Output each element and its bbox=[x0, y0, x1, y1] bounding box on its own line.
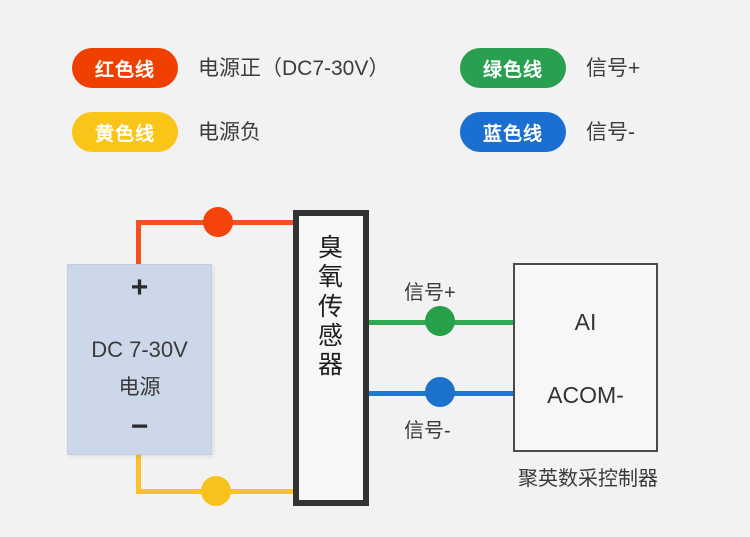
junction-dot-green-icon bbox=[425, 306, 455, 336]
junction-dot-yellow-icon bbox=[201, 476, 231, 506]
junction-dot-blue-icon bbox=[425, 377, 455, 407]
wiring-diagram-canvas: 红色线 电源正（DC7-30V） 黄色线 电源负 绿色线 信号+ 蓝色线 信号-… bbox=[0, 0, 750, 537]
legend-pill-yellow-wire: 黄色线 bbox=[72, 112, 178, 152]
sensor-char-5: 器 bbox=[299, 351, 363, 380]
legend-description-red-wire: 电源正（DC7-30V） bbox=[198, 52, 389, 82]
legend-pill-green-label: 绿色线 bbox=[483, 55, 543, 82]
sensor-char-4: 感 bbox=[299, 322, 363, 351]
power-supply-label: DC 7-30V 电源 bbox=[68, 337, 211, 401]
power-supply-voltage: DC 7-30V bbox=[68, 337, 211, 363]
ozone-sensor-label: 臭 氧 传 感 器 bbox=[299, 234, 363, 380]
controller-caption: 聚英数采控制器 bbox=[498, 462, 678, 491]
signal-positive-label: 信号+ bbox=[404, 276, 456, 305]
wire-power-negative-vertical bbox=[136, 449, 141, 494]
legend-pill-blue-wire: 蓝色线 bbox=[460, 112, 566, 152]
signal-negative-label: 信号- bbox=[404, 414, 451, 443]
legend-pill-green-wire: 绿色线 bbox=[460, 48, 566, 88]
power-supply-positive-terminal: + bbox=[68, 273, 211, 303]
legend-description-green-wire: 信号+ bbox=[586, 52, 640, 82]
power-supply-negative-terminal: − bbox=[68, 412, 211, 442]
ozone-sensor-box: 臭 氧 传 感 器 bbox=[293, 210, 369, 506]
sensor-char-1: 臭 bbox=[299, 234, 363, 263]
controller-terminal-acom: ACOM- bbox=[515, 382, 656, 409]
legend-pill-yellow-label: 黄色线 bbox=[95, 119, 155, 146]
legend-description-blue-wire: 信号- bbox=[586, 116, 635, 146]
wire-power-positive-vertical bbox=[136, 222, 141, 270]
legend-pill-blue-label: 蓝色线 bbox=[483, 119, 543, 146]
legend-pill-red-label: 红色线 bbox=[95, 55, 155, 82]
sensor-char-2: 氧 bbox=[299, 263, 363, 292]
legend-pill-red-wire: 红色线 bbox=[72, 48, 178, 88]
power-supply-name: 电源 bbox=[68, 371, 211, 401]
controller-terminal-ai: AI bbox=[515, 309, 656, 336]
legend-description-yellow-wire: 电源负 bbox=[198, 116, 261, 146]
junction-dot-red-icon bbox=[203, 207, 233, 237]
sensor-char-3: 传 bbox=[299, 293, 363, 322]
data-acquisition-controller-box: AI ACOM- bbox=[513, 263, 658, 452]
power-supply-box: + DC 7-30V 电源 − bbox=[67, 264, 212, 455]
